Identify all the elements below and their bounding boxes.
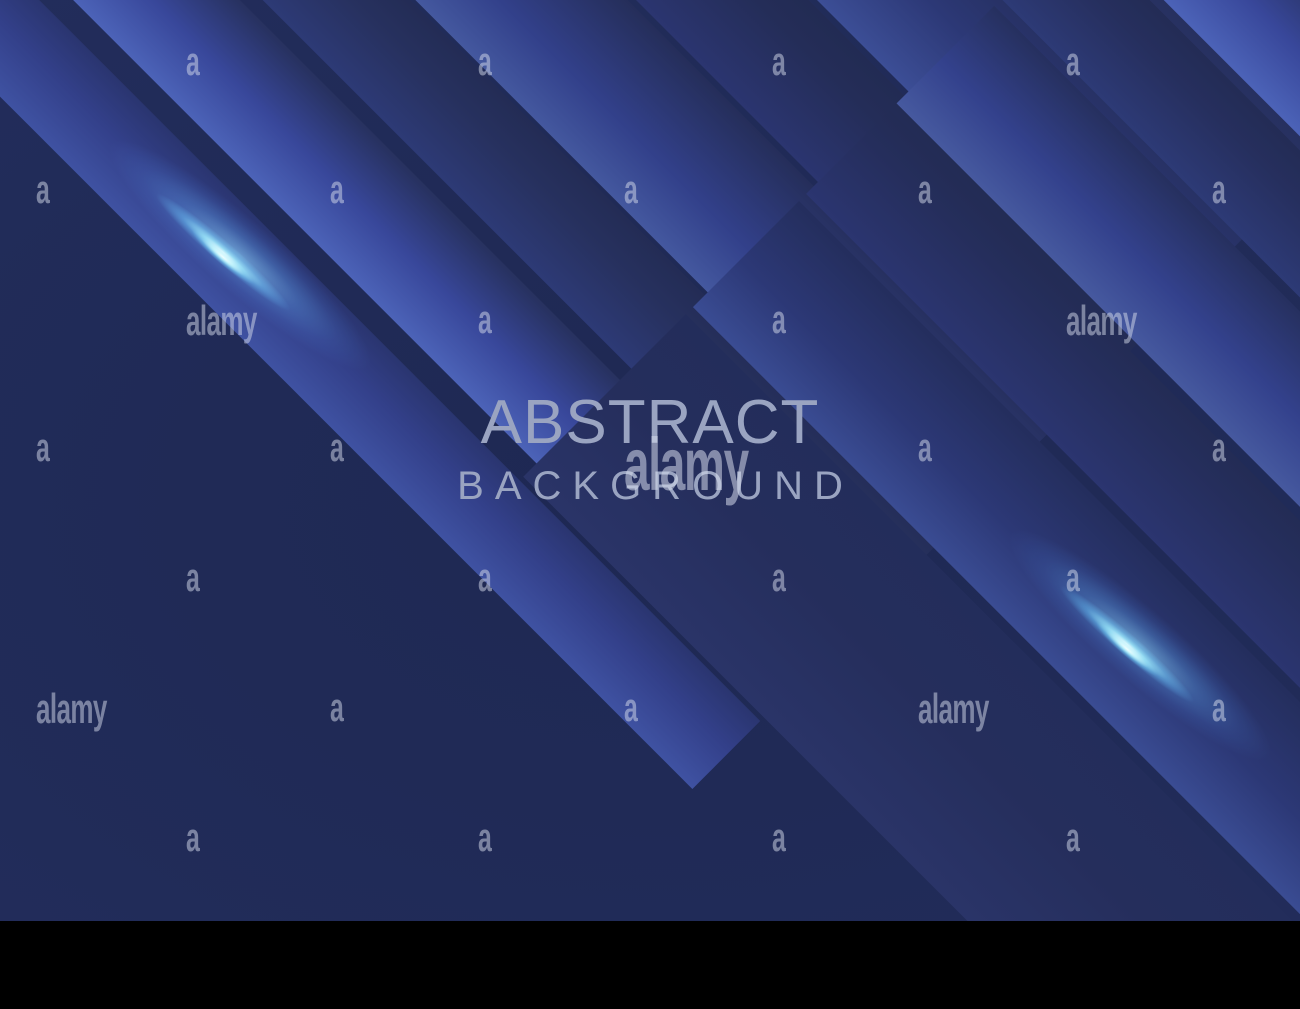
screenshot-stage: ABSTRACT BACKGROUND aaaaaaaaaalamyaaalam… bbox=[0, 0, 1300, 1009]
stripe-band bbox=[0, 0, 861, 704]
watermark-a-glyph: a bbox=[478, 300, 492, 340]
watermark-a-glyph: a bbox=[1066, 558, 1080, 598]
bottom-right-glow-core bbox=[1003, 526, 1250, 761]
watermark-a-glyph: a bbox=[478, 42, 492, 82]
watermark-a-glyph: a bbox=[772, 300, 786, 340]
watermark-a-glyph: a bbox=[186, 42, 200, 82]
top-left-stripe-group bbox=[0, 0, 720, 760]
watermark-alamy-mark: alamy bbox=[624, 428, 748, 502]
stripe-band bbox=[523, 314, 1300, 921]
top-left-glow-core bbox=[99, 134, 346, 369]
watermark-a-glyph: a bbox=[918, 170, 932, 210]
watermark-alamy-mark: alamy bbox=[36, 688, 107, 730]
stripe-band bbox=[693, 201, 1300, 921]
stripe-band bbox=[0, 0, 760, 789]
watermark-a-glyph: a bbox=[918, 428, 932, 468]
artwork-title-block: ABSTRACT BACKGROUND bbox=[0, 392, 1300, 506]
top-left-glow-hotspot bbox=[162, 199, 283, 315]
watermark-a-glyph: a bbox=[478, 818, 492, 858]
stripe-band bbox=[1250, 0, 1300, 811]
stripe-band bbox=[806, 110, 1300, 921]
watermark-a-glyph: a bbox=[624, 688, 638, 728]
alamy-footer-bar: alamy Image ID: 2CXYND1 www.alamy.com bbox=[0, 921, 1300, 1009]
watermark-alamy-mark: alamy bbox=[1066, 300, 1137, 342]
watermark-a-glyph: a bbox=[36, 170, 50, 210]
watermark-a-glyph: a bbox=[1066, 42, 1080, 82]
stripe-band bbox=[370, 0, 1300, 51]
stripe-band bbox=[0, 0, 946, 609]
watermark-a-glyph: a bbox=[330, 688, 344, 728]
stripe-band bbox=[0, 0, 1145, 423]
watermark-alamy-mark: alamy bbox=[918, 688, 989, 730]
watermark-a-glyph: a bbox=[36, 428, 50, 468]
watermark-a-glyph: a bbox=[478, 558, 492, 598]
stripe-band bbox=[1178, 0, 1300, 883]
top-left-glow-halo bbox=[0, 0, 513, 525]
watermark-a-glyph: a bbox=[186, 558, 200, 598]
watermark-a-glyph: a bbox=[624, 170, 638, 210]
artwork-headline: ABSTRACT bbox=[0, 392, 1300, 454]
stripe-band bbox=[89, 0, 1274, 332]
watermark-alamy-mark: alamy bbox=[186, 300, 257, 342]
watermark-a-glyph: a bbox=[330, 170, 344, 210]
stripe-band bbox=[1082, 0, 1300, 921]
bottom-right-glow-halo bbox=[867, 375, 1300, 915]
watermark-a-glyph: a bbox=[1212, 688, 1226, 728]
watermark-a-glyph: a bbox=[1212, 428, 1226, 468]
watermark-a-glyph: a bbox=[186, 818, 200, 858]
stripe-band bbox=[0, 0, 1054, 533]
watermark-a-glyph: a bbox=[1212, 170, 1226, 210]
watermark-a-glyph: a bbox=[772, 558, 786, 598]
alamy-watermark-layer: aaaaaaaaaalamyaaalamyaaalamyaaaaaaalamya… bbox=[0, 0, 1300, 921]
stock-image-artwork: ABSTRACT BACKGROUND aaaaaaaaaalamyaaalam… bbox=[0, 0, 1300, 921]
artwork-subheadline: BACKGROUND bbox=[0, 466, 1300, 506]
watermark-a-glyph: a bbox=[772, 42, 786, 82]
bottom-right-stripe-group bbox=[700, 300, 1300, 921]
watermark-a-glyph: a bbox=[330, 428, 344, 468]
watermark-a-glyph: a bbox=[1066, 818, 1080, 858]
watermark-a-glyph: a bbox=[772, 818, 786, 858]
stripe-band bbox=[897, 6, 1300, 921]
bottom-right-glow-hotspot bbox=[1066, 591, 1187, 707]
stripe-band bbox=[1001, 0, 1300, 921]
background-vignette bbox=[0, 0, 1300, 921]
stripe-band bbox=[217, 0, 1300, 203]
